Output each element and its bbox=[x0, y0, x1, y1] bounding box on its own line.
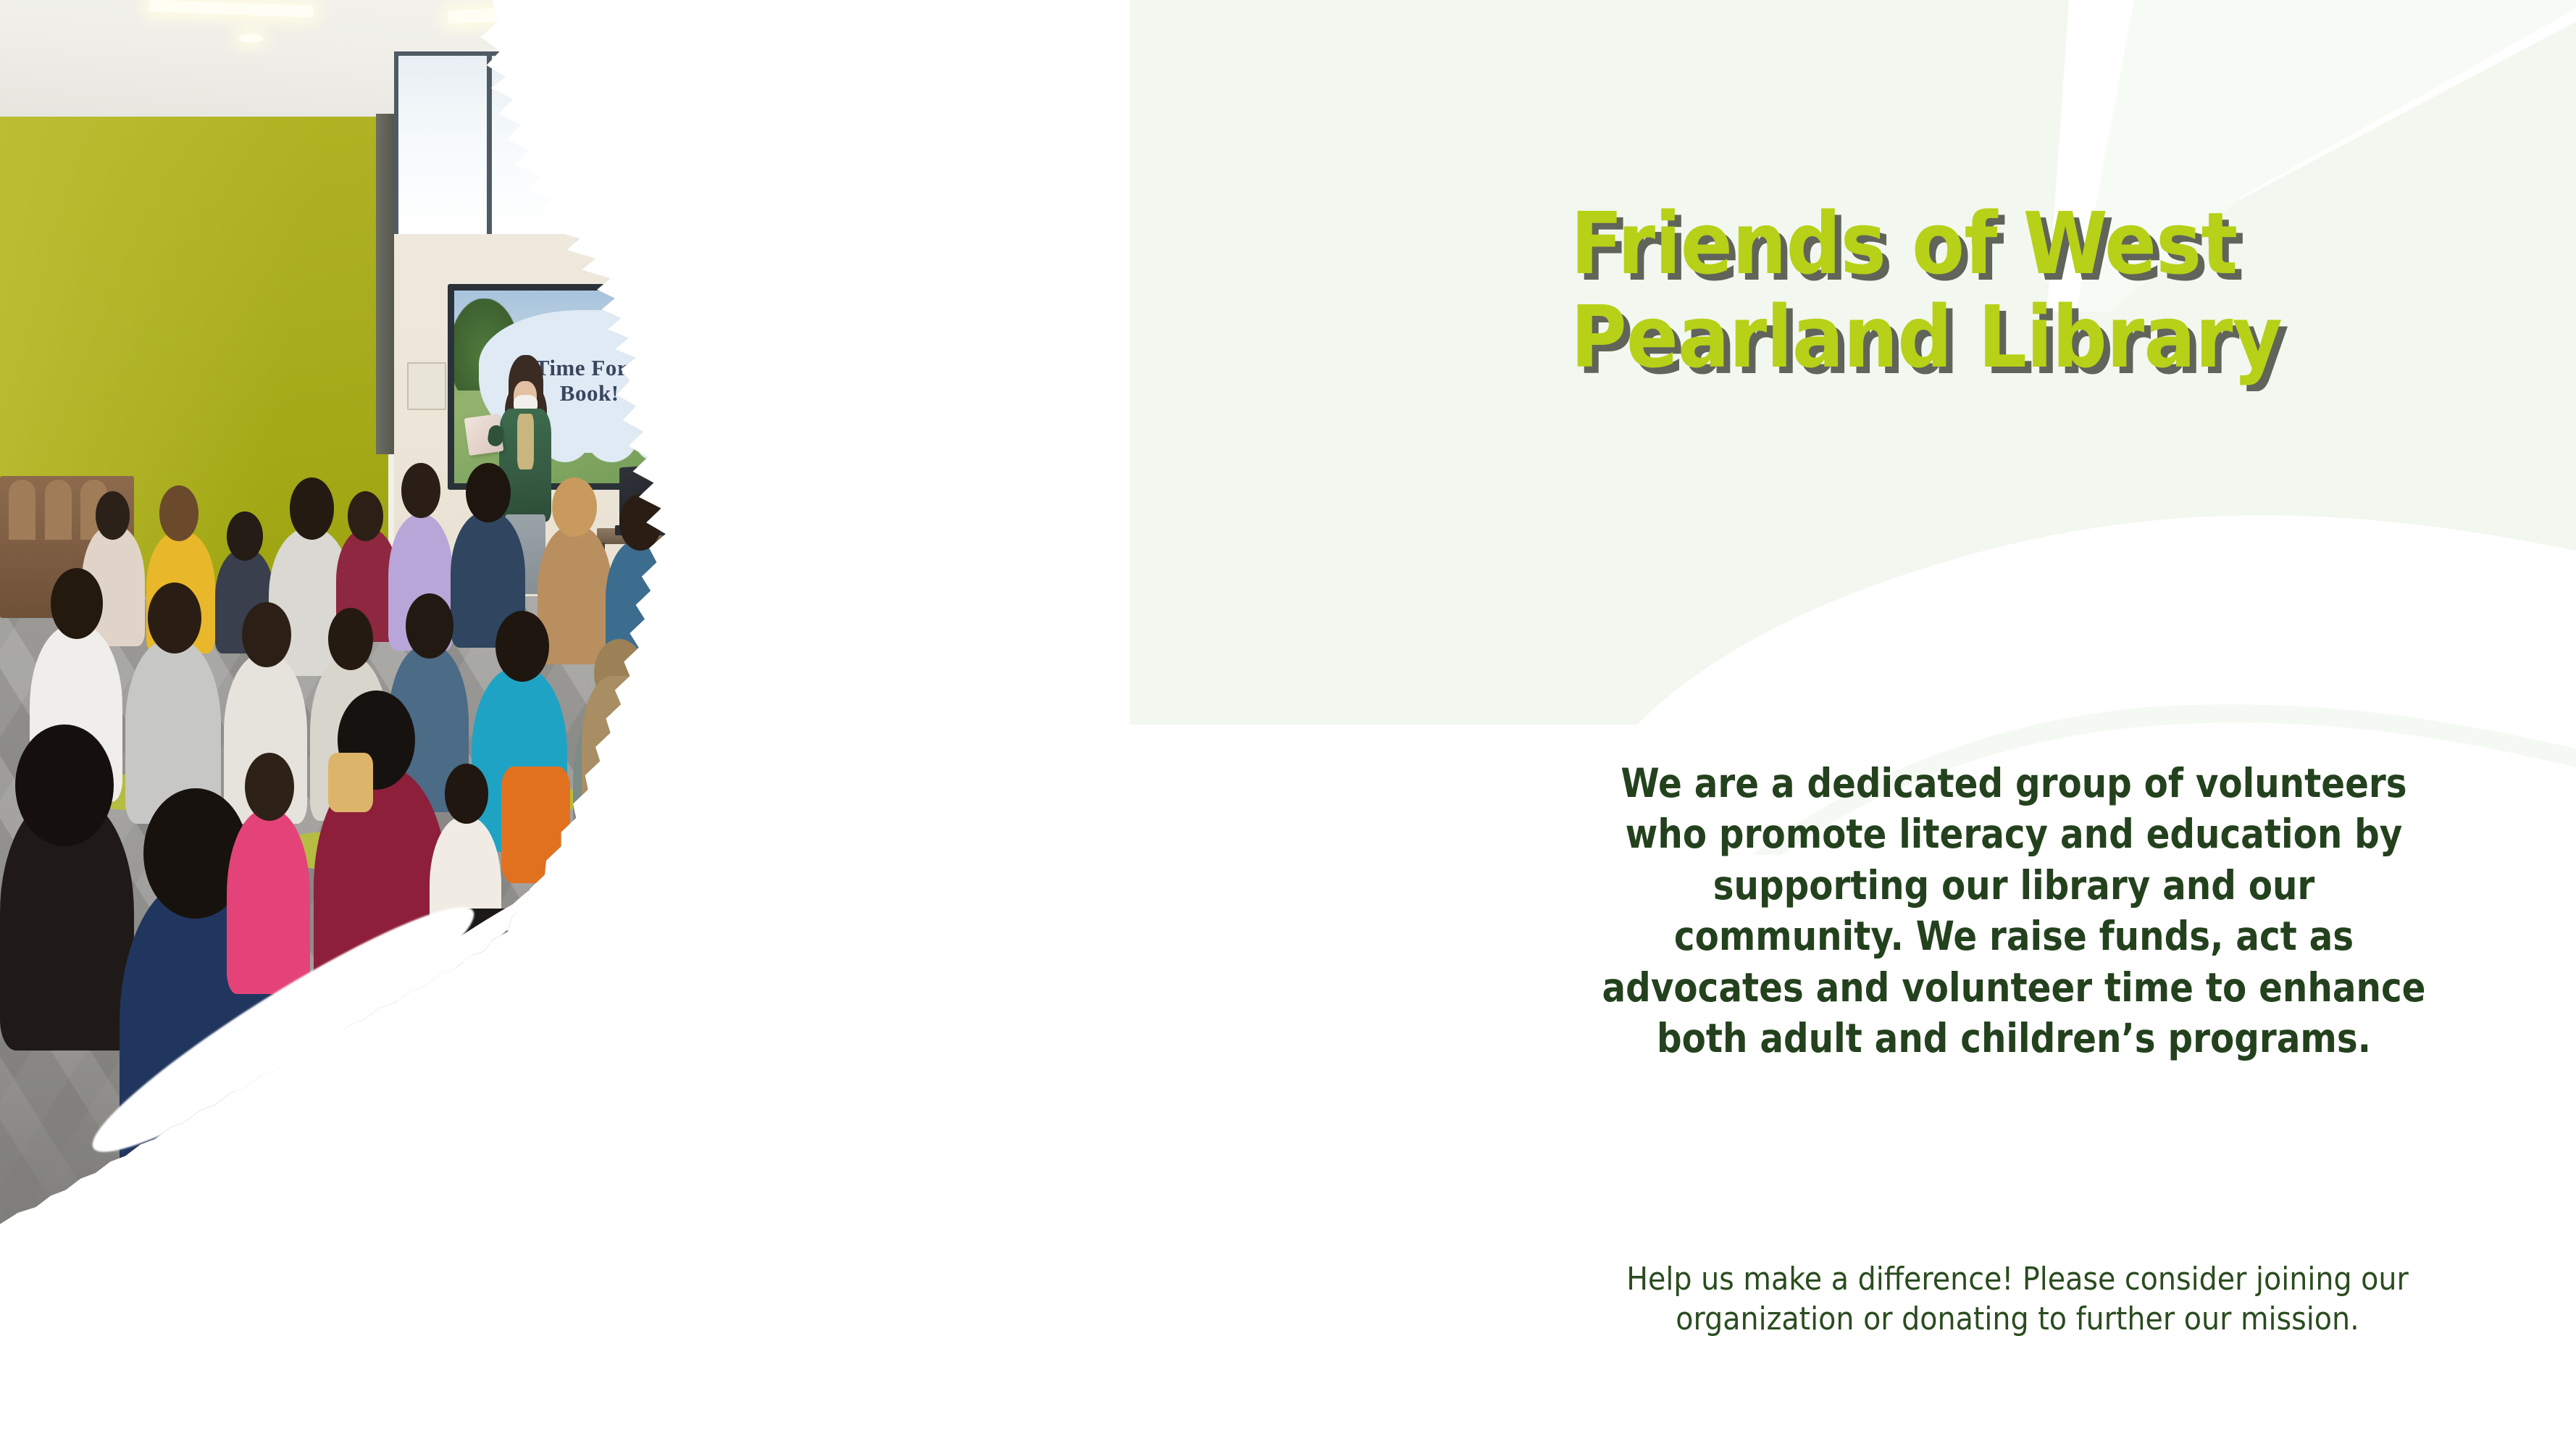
toy-object bbox=[694, 519, 729, 538]
window-mullion bbox=[487, 51, 492, 243]
table-leg bbox=[755, 543, 761, 670]
page-title: Friends of West Pearland Library bbox=[1571, 197, 2385, 383]
presentation-screen: Time For a Book! bbox=[448, 284, 731, 490]
ceiling-light-icon bbox=[642, 70, 821, 101]
audience-head bbox=[159, 485, 198, 540]
audience-head bbox=[348, 491, 383, 541]
audience-head bbox=[624, 704, 664, 761]
audience-child bbox=[669, 639, 732, 767]
audience-head-foreground bbox=[15, 724, 114, 847]
ceiling-light-icon bbox=[672, 4, 850, 38]
audience-head bbox=[51, 568, 103, 639]
audience-child bbox=[227, 809, 310, 994]
floor-mat bbox=[627, 809, 761, 846]
audience-hair-long bbox=[582, 676, 656, 846]
audience-head bbox=[245, 753, 294, 821]
mission-paragraph: We are a dedicated group of volunteers w… bbox=[1599, 758, 2428, 1064]
audience-head bbox=[401, 463, 440, 518]
slide-canvas: Time For a Book! bbox=[0, 0, 2576, 1449]
audience-head bbox=[290, 477, 335, 540]
book-stack bbox=[693, 488, 732, 531]
headline-line-1: Friends of West bbox=[1571, 193, 2237, 293]
audience-child bbox=[612, 753, 678, 888]
audience-head bbox=[680, 596, 719, 650]
window-band bbox=[394, 51, 670, 243]
window-mullion bbox=[576, 51, 581, 243]
shelf-arch bbox=[45, 480, 72, 539]
audience-head bbox=[619, 494, 661, 551]
call-to-action-paragraph: Help us make a difference! Please consid… bbox=[1597, 1259, 2438, 1340]
brush-stroke bbox=[0, 1131, 656, 1420]
headline-line-2: Pearland Library bbox=[1571, 287, 2282, 387]
bag-icon bbox=[328, 753, 373, 812]
audience-head bbox=[466, 463, 511, 522]
audience-head bbox=[328, 608, 373, 670]
shelf-arch bbox=[9, 480, 35, 539]
ceiling-vent-icon bbox=[239, 34, 263, 43]
presenter-shirt bbox=[517, 414, 534, 470]
backpack-icon bbox=[501, 767, 570, 883]
audience-head bbox=[148, 582, 201, 653]
audience-head bbox=[495, 611, 549, 682]
brush-stroke bbox=[298, 1087, 566, 1270]
screen-cable bbox=[695, 372, 725, 529]
floor-mat bbox=[806, 746, 925, 780]
audience-head bbox=[96, 491, 130, 540]
wall-outlet-icon bbox=[755, 346, 771, 380]
wall-sign bbox=[407, 362, 446, 411]
audience-head bbox=[242, 602, 291, 667]
audience-head bbox=[227, 511, 262, 561]
brush-speck bbox=[455, 1014, 575, 1103]
screen-tree-icon bbox=[649, 294, 730, 394]
audience-head bbox=[552, 477, 597, 537]
power-cable bbox=[666, 540, 711, 724]
audience-head bbox=[445, 764, 488, 823]
screen-text-line2: Book! bbox=[560, 381, 619, 406]
